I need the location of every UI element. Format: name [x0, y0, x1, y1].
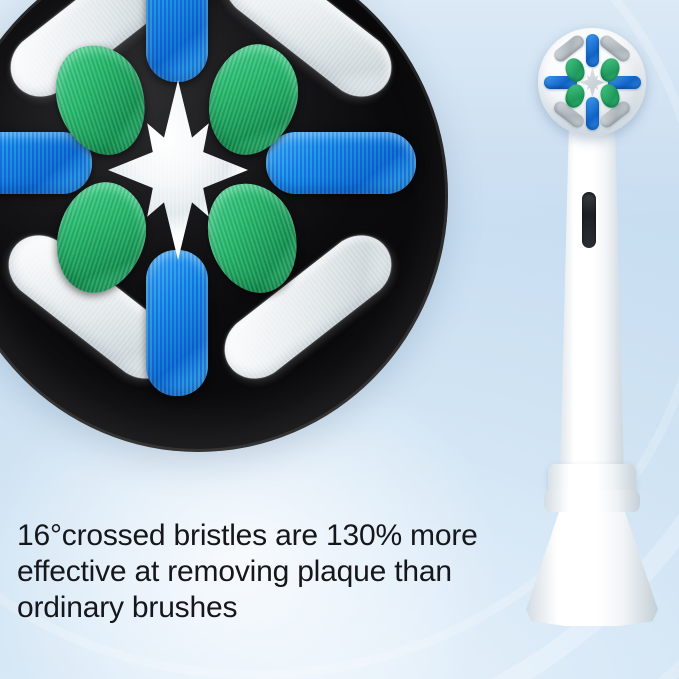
caption-line-3: ordinary brushes	[17, 590, 537, 626]
brush-collar-ring-2	[544, 490, 640, 512]
macro-bristle-closeup	[0, 0, 448, 452]
head-blue-tuft-bottom	[586, 97, 599, 130]
caption-text: 16°crossed bristles are 130% more effect…	[17, 518, 537, 626]
blue-tuft-bottom	[146, 250, 208, 396]
brush-neck	[560, 124, 624, 476]
neck-slot	[582, 192, 596, 248]
product-image-canvas: 16°crossed bristles are 130% more effect…	[0, 0, 679, 679]
blue-tuft-top	[146, 0, 208, 82]
caption-line-2: effective at removing plaque than	[17, 554, 537, 590]
caption-line-1: 16°crossed bristles are 130% more	[17, 518, 537, 554]
brush-base-sheen	[554, 516, 574, 616]
head-blue-tuft-top	[586, 34, 599, 67]
blue-tuft-right	[266, 132, 416, 194]
brush-base	[526, 508, 658, 626]
